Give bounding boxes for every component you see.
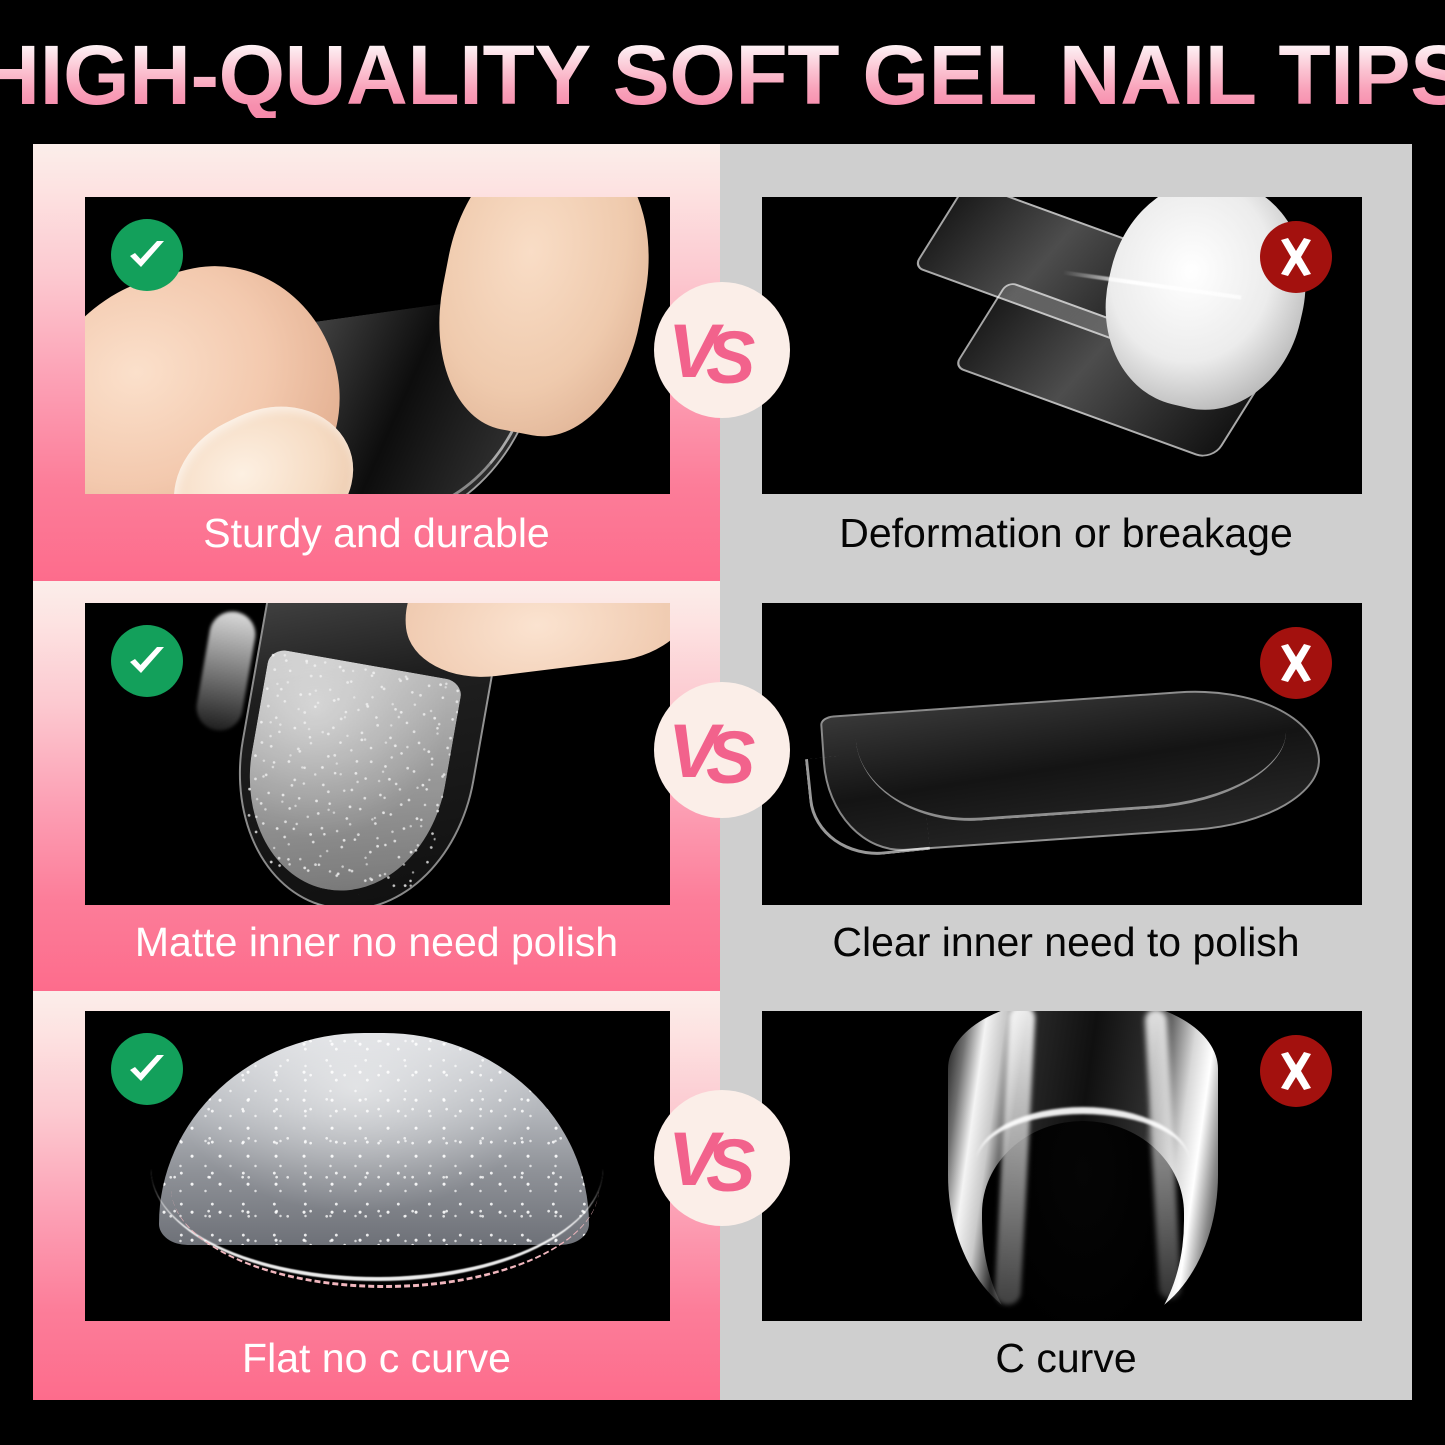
bad-photo-2-clear-inner	[762, 603, 1362, 905]
bad-photo-3-c-curve	[762, 1011, 1362, 1321]
good-row-3: Flat no c curve	[33, 991, 720, 1400]
good-caption-2: Matte inner no need polish	[33, 918, 720, 966]
vs-badge-row-3: V S	[654, 1090, 790, 1226]
bad-row-1: Deformation or breakage	[720, 144, 1412, 581]
check-mark-icon	[111, 625, 183, 697]
good-caption-1: Sturdy and durable	[33, 509, 720, 557]
infographic-root: HIGH-QUALITY SOFT GEL NAIL TIPS Sturdy a…	[0, 0, 1445, 1445]
check-mark-icon	[111, 1033, 183, 1105]
cross-mark-icon	[1260, 1035, 1332, 1107]
cross-mark-icon	[1260, 627, 1332, 699]
vs-badge-row-1: V S	[654, 282, 790, 418]
check-mark-icon	[111, 219, 183, 291]
dashed-guide-line	[171, 1179, 599, 1288]
matte-texture	[231, 648, 464, 905]
bad-caption-1: Deformation or breakage	[720, 509, 1412, 557]
svg-text:S: S	[706, 316, 755, 395]
bad-caption-2: Clear inner need to polish	[720, 918, 1412, 966]
bad-row-2: Clear inner need to polish	[720, 581, 1412, 991]
page-title: HIGH-QUALITY SOFT GEL NAIL TIPS	[0, 32, 1445, 118]
bad-comparison-panel: Deformation or breakage Clear inner need…	[720, 144, 1412, 1400]
svg-text:S: S	[706, 716, 755, 795]
bad-photo-1-broken-tips	[762, 197, 1362, 494]
cross-mark-icon	[1260, 221, 1332, 293]
good-caption-3: Flat no c curve	[33, 1334, 720, 1382]
bad-caption-3: C curve	[720, 1334, 1412, 1382]
good-comparison-panel: Sturdy and durable	[33, 144, 720, 1400]
good-row-2: Matte inner no need polish	[33, 581, 720, 991]
matte-inner-surface	[231, 648, 464, 905]
clear-tip-cuticle-hook	[805, 747, 930, 861]
bad-row-3: C curve	[720, 991, 1412, 1400]
c-curve-tip	[948, 1011, 1218, 1321]
good-photo-3-flat-curve	[85, 1011, 670, 1321]
svg-text:S: S	[706, 1124, 755, 1203]
good-row-1: Sturdy and durable	[33, 144, 720, 581]
vs-badge-row-2: V S	[654, 682, 790, 818]
good-photo-2-matte-inner	[85, 603, 670, 905]
good-photo-1-sturdy-tip	[85, 197, 670, 494]
